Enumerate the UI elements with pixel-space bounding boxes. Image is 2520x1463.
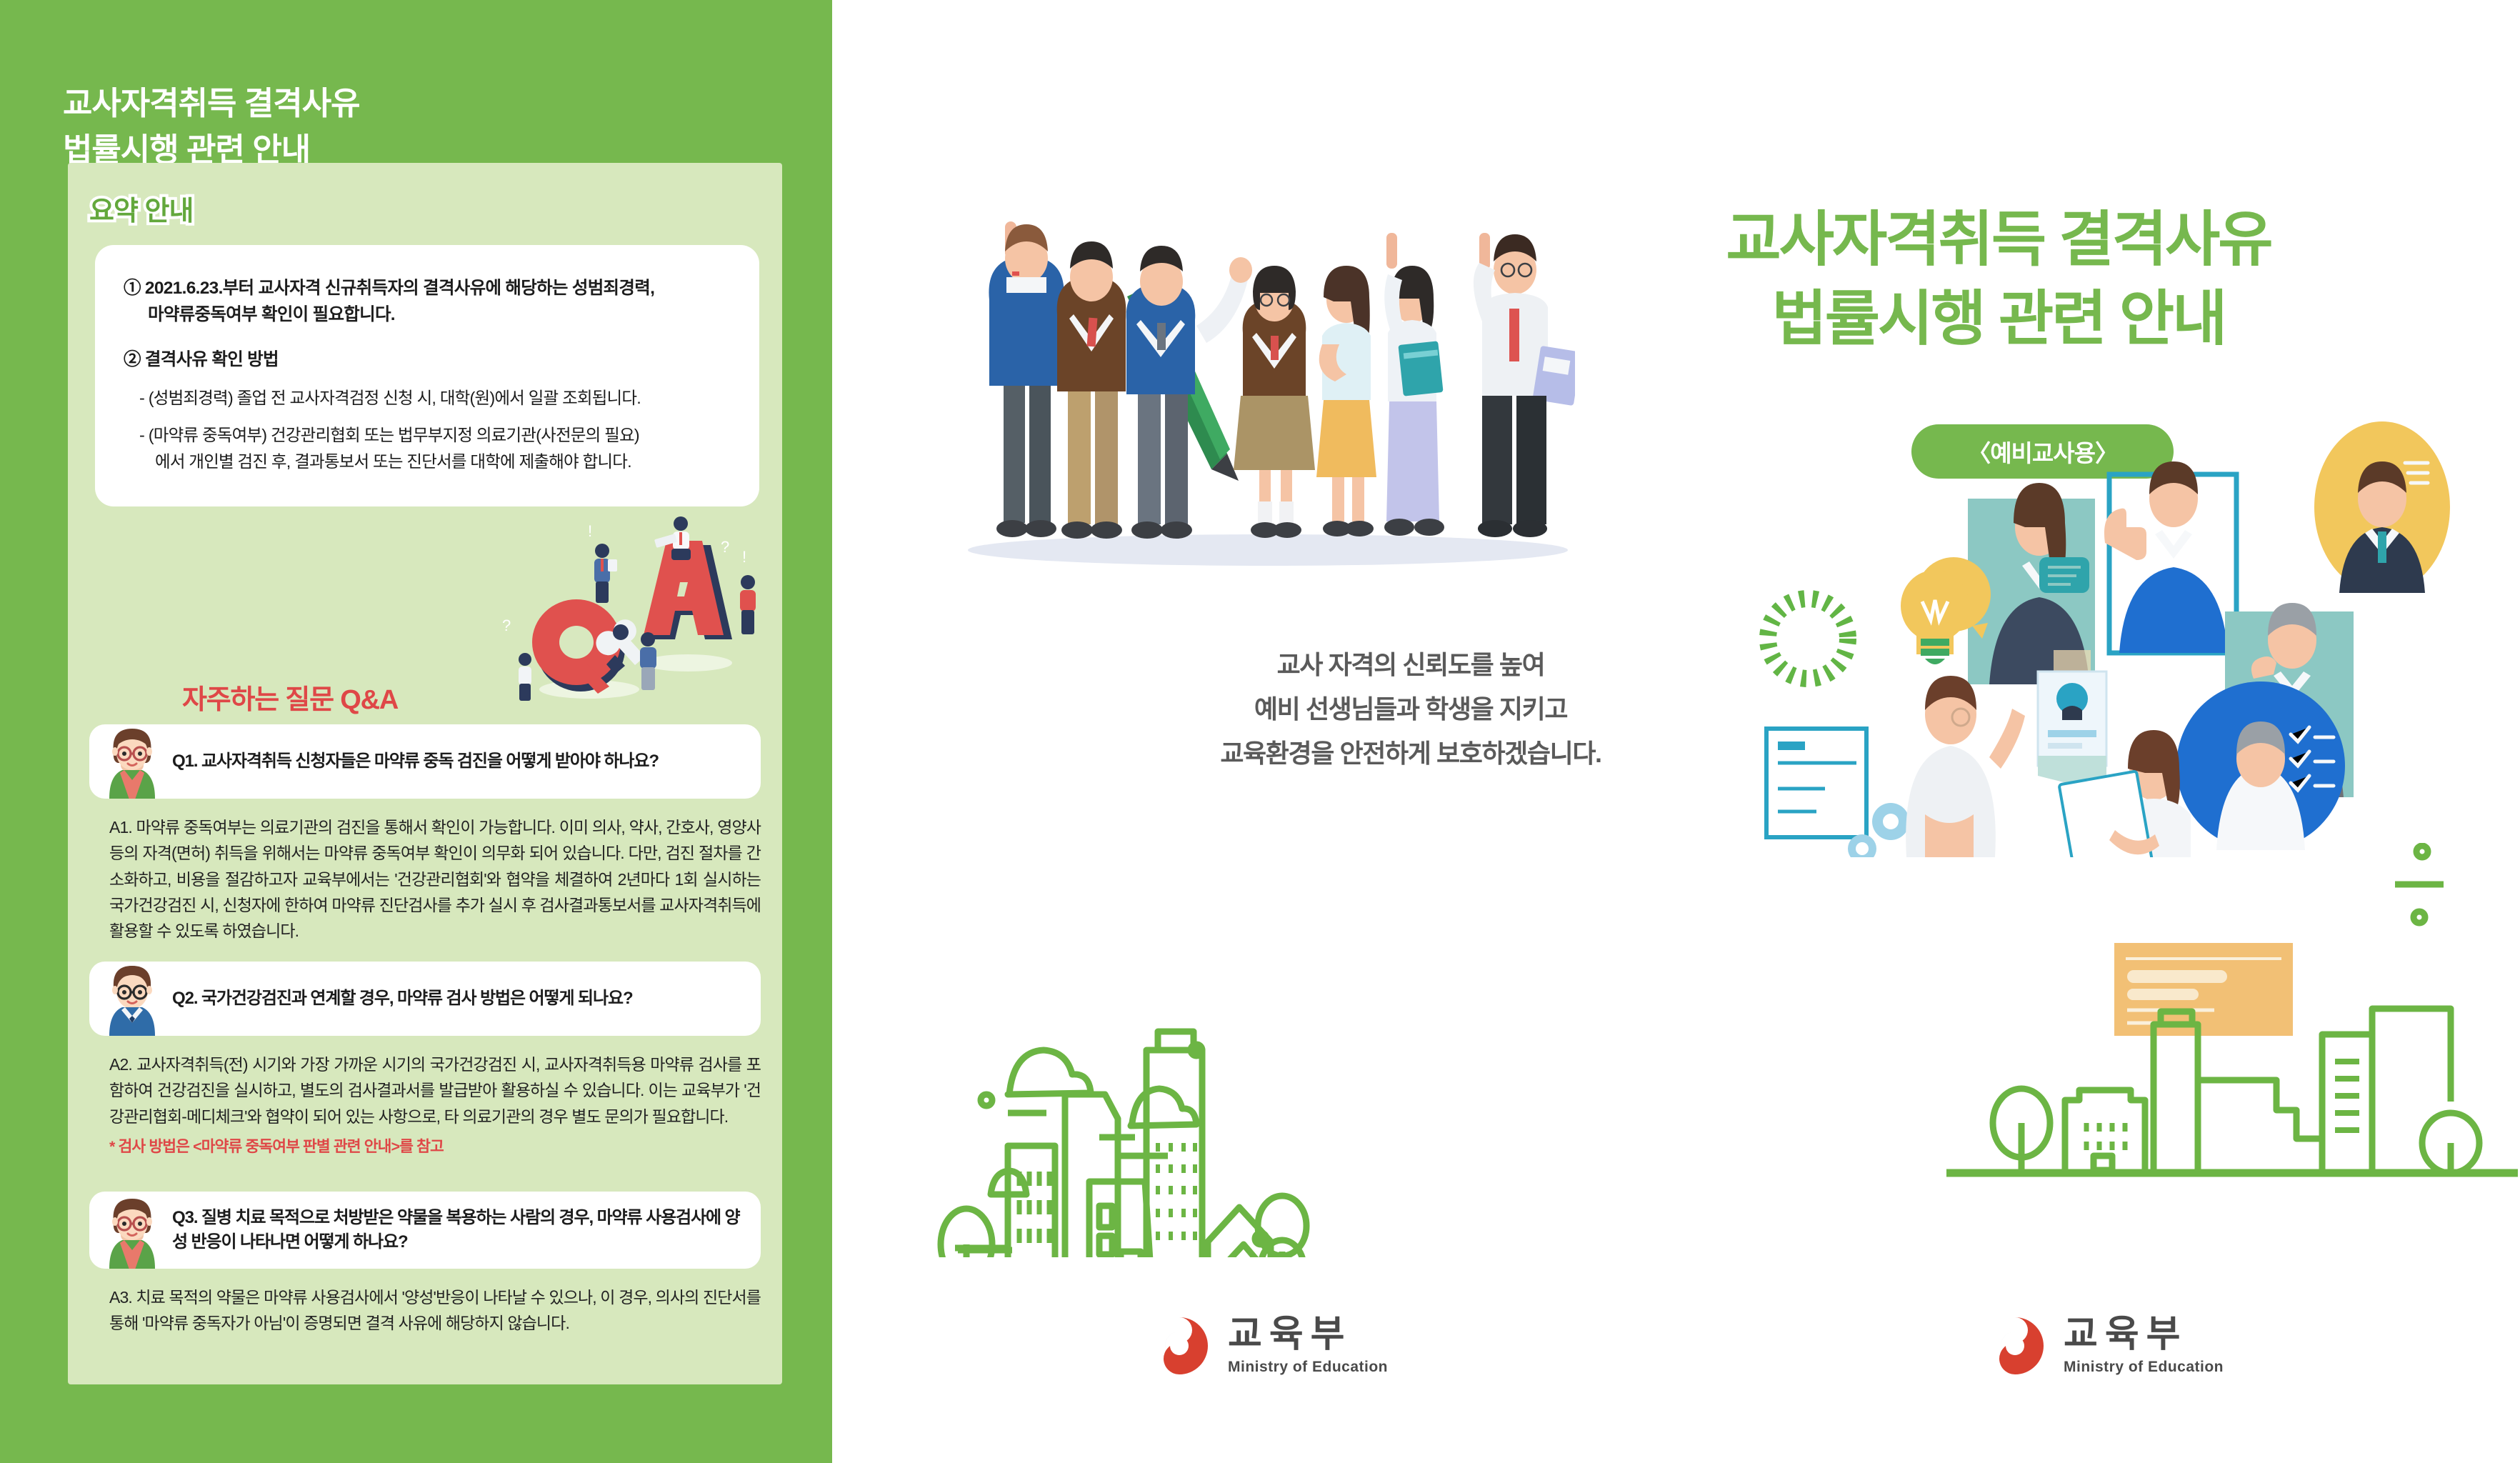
tagline-line-2: 예비 선생님들과 학생을 지키고 [1054, 687, 1768, 731]
person-with-clipboard [594, 544, 617, 603]
hero-title-line-1: 교사자격취득 결격사유 [1570, 200, 2427, 279]
online-education-collage-illustration [1754, 414, 2520, 857]
green-accent-marks [2354, 843, 2454, 943]
person-facing-a [640, 632, 656, 690]
hero-title: 교사자격취득 결격사유 법률시행 관련 안내 [1570, 200, 2427, 359]
taegeuk-logo-icon-2 [1982, 1313, 2048, 1379]
answer-text-1: A1. 마약류 중독여부는 의료기관의 검진을 통해서 확인이 가능합니다. 이… [89, 814, 761, 944]
female-glasses-avatar-icon-2 [99, 1194, 165, 1269]
ministry-logo-text: 교육부 Ministry of Education [1228, 1316, 1388, 1376]
question-bubble-3: Q3. 질병 치료 목적으로 처방받은 약물을 복용하는 사람의 경우, 마약류… [89, 1192, 761, 1269]
summary-item-2-bullet-1: - (성범죄경력) 졸업 전 교사자격검정 신청 시, 대학(원)에서 일괄 조… [124, 385, 731, 411]
qa-block-2: Q2. 국가건강검진과 연계할 경우, 마약류 검사 방법은 어떻게 되나요? … [89, 962, 761, 1159]
ministry-name-en-2: Ministry of Education [2064, 1359, 2224, 1376]
city-lineart-left [875, 929, 1732, 1257]
left-green-panel: 교사자격취득 결격사유 법률시행 관련 안내 요약 안내 ① 2021.6.23… [0, 0, 832, 1463]
person-blue-sweater [989, 221, 1064, 537]
summary-item-2-title: ② 결격사유 확인 방법 [124, 346, 731, 373]
question-bubble-1: Q1. 교사자격취득 신청자들은 마약류 중독 검진을 어떻게 받아야 하나요? [89, 724, 761, 799]
question-text-1: Q1. 교사자격취득 신청자들은 마약류 중독 검진을 어떻게 받아야 하나요? [172, 749, 659, 774]
tagline-line-1: 교사 자격의 신뢰도를 높여 [1054, 643, 1768, 687]
question-text-2: Q2. 국가건강검진과 연계할 경우, 마약류 검사 방법은 어떻게 되나요? [172, 987, 633, 1011]
ministry-logo-right: 교육부 Ministry of Education [1982, 1313, 2224, 1379]
ministry-name-en: Ministry of Education [1228, 1359, 1388, 1376]
svg-text:?: ? [721, 538, 729, 556]
answer-note-2: * 검사 방법은 <마약류 중독여부 판별 관련 안내>를 참고 [109, 1135, 761, 1159]
summary-item-1: ① 2021.6.23.부터 교사자격 신규취득자의 결격사유에 해당하는 성범… [124, 275, 731, 328]
summary-white-box: ① 2021.6.23.부터 교사자격 신규취득자의 결격사유에 해당하는 성범… [95, 245, 759, 506]
city-lineart-right [1946, 972, 2518, 1207]
tagline: 교사 자격의 신뢰도를 높여 예비 선생님들과 학생을 지키고 교육환경을 안전… [1054, 643, 1768, 776]
person-pointing-right [740, 575, 756, 634]
person-suit-glasses [1474, 233, 1575, 537]
question-text-3: Q3. 질병 치료 목적으로 처방받은 약물을 복용하는 사람의 경우, 마약류… [172, 1206, 742, 1254]
answer-text-2: A2. 교사자격취득(전) 시기와 가장 가까운 시기의 국가건강검진 시, 교… [89, 1052, 761, 1159]
ministry-name-ko: 교육부 [1228, 1316, 1388, 1353]
document-card-icon [1766, 729, 1866, 837]
person-brown-vest [1057, 241, 1126, 539]
person-yellow-skirt [1316, 266, 1376, 536]
question-bubble-2: Q2. 국가건강검진과 연계할 경우, 마약류 검사 방법은 어떻게 되나요? [89, 962, 761, 1036]
summary-item-1-line-1: ① 2021.6.23.부터 교사자격 신규취득자의 결격사유에 해당하는 성범… [124, 279, 654, 298]
qa-illustration-svg: ? ! ? ! [496, 516, 775, 724]
summary-item-2-bullet-2b: 에서 개인별 검진 후, 결과통보서 또는 진단서를 대학에 제출해야 합니다. [124, 449, 731, 475]
answer-body-2: A2. 교사자격취득(전) 시기와 가장 가까운 시기의 국가건강검진 시, 교… [109, 1055, 761, 1126]
hero-title-line-2: 법률시행 관련 안내 [1570, 279, 2427, 359]
left-title-line-1: 교사자격취득 결격사유 [63, 80, 777, 126]
female-glasses-avatar-icon [99, 724, 165, 799]
right-cover-panel: 교사자격취득 결격사유 법률시행 관련 안내 〈예비교사용〉 교사 자격의 신뢰… [832, 0, 2520, 1463]
person-school-uniform-girl [1234, 266, 1315, 538]
svg-text:!: ! [588, 522, 592, 540]
collage-person-pointing [1906, 676, 2025, 857]
ministry-logo-center: 교육부 Ministry of Education [1146, 1313, 1388, 1379]
answer-text-3: A3. 치료 목적의 약물은 마약류 사용검사에서 '양성'반응이 나타날 수 … [89, 1284, 761, 1337]
person-with-pencil [1126, 246, 1252, 539]
collage-person-thumbsup [2104, 461, 2228, 653]
summary-item-1-line-2: 마약류중독여부 확인이 필요합니다. [124, 301, 731, 328]
qa-letters-illustration: ? ! ? ! [496, 516, 775, 724]
person-sitting-on-a [654, 516, 691, 560]
person-with-teal-book [1384, 233, 1444, 536]
svg-text:!: ! [742, 548, 746, 566]
summary-card: 요약 안내 ① 2021.6.23.부터 교사자격 신규취득자의 결격사유에 해… [68, 163, 782, 1384]
dotted-ring-decoration [1768, 599, 1848, 679]
qa-block-3: Q3. 질병 치료 목적으로 처방받은 약물을 복용하는 사람의 경우, 마약류… [89, 1192, 761, 1337]
qa-section-title: 자주하는 질문 Q&A [182, 677, 398, 716]
svg-text:?: ? [502, 616, 511, 634]
tagline-line-3: 교육환경을 안전하게 보호하겠습니다. [1054, 731, 1768, 776]
left-panel-title: 교사자격취득 결격사유 법률시행 관련 안내 [63, 80, 777, 174]
taegeuk-logo-icon [1146, 1313, 1212, 1379]
male-glasses-avatar-icon [99, 962, 165, 1036]
ministry-logo-text-2: 교육부 Ministry of Education [2064, 1316, 2224, 1376]
id-card-icon [2038, 671, 2106, 784]
person-standing-left [519, 653, 531, 701]
people-group-illustration [961, 193, 1575, 571]
ministry-name-ko-2: 교육부 [2064, 1316, 2224, 1353]
summary-heading: 요약 안내 [89, 189, 193, 228]
summary-item-2-bullet-2a: - (마약류 중독여부) 건강관리협회 또는 법무부지정 의료기관(사전문의 필… [124, 422, 731, 449]
qa-block-1: Q1. 교사자격취득 신청자들은 마약류 중독 검진을 어떻게 받아야 하나요?… [89, 724, 761, 944]
